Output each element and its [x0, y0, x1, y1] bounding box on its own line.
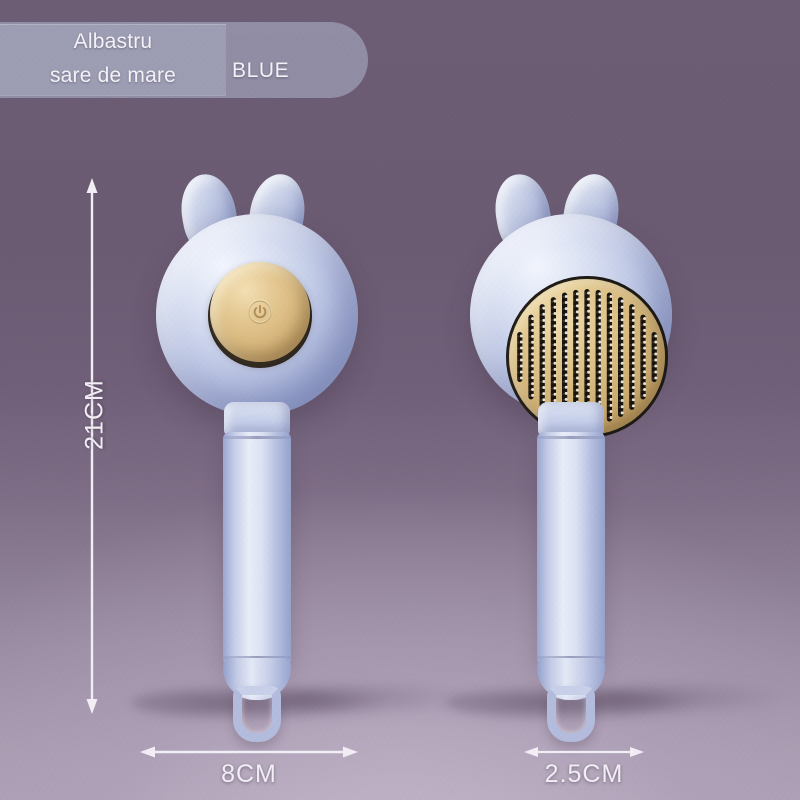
handle-front	[223, 432, 291, 666]
dimension-height-label: 21CM	[81, 360, 110, 470]
handle-seam-top-front	[223, 436, 291, 439]
dimension-height: 21CM	[62, 178, 132, 714]
dimension-width-left-label: 8CM	[140, 760, 358, 789]
dimension-width-right-label: 2.5CM	[524, 760, 644, 789]
color-name-romanian: Albastru sare de mare	[0, 25, 226, 93]
power-button[interactable]	[210, 262, 310, 362]
dimension-width-right: 2.5CM	[524, 742, 644, 796]
hanging-loop-back	[547, 686, 595, 742]
product-back-view	[454, 170, 686, 715]
product-front-view	[140, 170, 372, 715]
cast-shadow-right	[586, 687, 800, 709]
neck-back	[538, 402, 604, 436]
brush-head-front	[156, 214, 358, 416]
product-photo-scene: 21CM 8CM 2.5CM Albastru sare de mare BLU…	[0, 0, 800, 800]
color-name-romanian-line1: Albastru	[0, 25, 226, 59]
neck-front	[224, 402, 290, 436]
handle-back	[537, 432, 605, 666]
color-name-english: BLUE	[232, 58, 352, 84]
dimension-width-right-arrow	[524, 742, 644, 762]
dimension-width-left: 8CM	[140, 742, 358, 796]
brush-head-back	[470, 214, 672, 416]
power-icon	[247, 299, 273, 325]
handle-seam-top-back	[537, 436, 605, 439]
dimension-width-left-arrow	[140, 742, 358, 762]
color-name-romanian-line2: sare de mare	[0, 59, 226, 93]
hanging-loop-front	[233, 686, 281, 742]
